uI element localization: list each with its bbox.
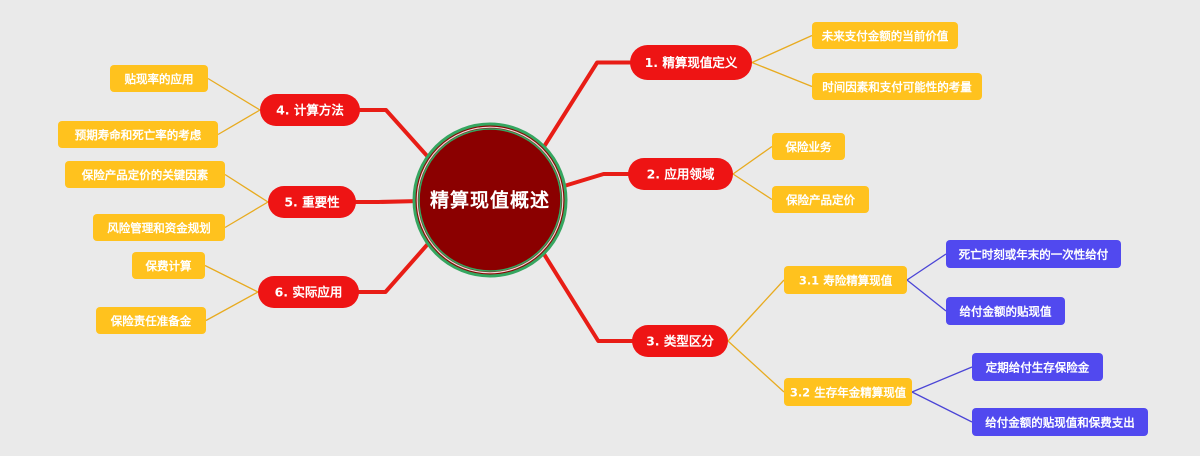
leaf-6-1-label: 保费计算 xyxy=(145,259,192,273)
edge-branch-leaf-1-2 xyxy=(752,63,812,87)
edge-branch-leaf-6-2 xyxy=(206,292,258,321)
edge-branch-leaf-4-2 xyxy=(218,110,260,135)
edge-trunk-branch-6 xyxy=(359,243,429,292)
root-node[interactable]: 精算现值概述 xyxy=(414,124,566,276)
branch-2-label: 2. 应用领域 xyxy=(647,167,715,182)
edge-branch-leaf-5-1 xyxy=(225,175,268,203)
edge-sub-leaf-3-2-2 xyxy=(912,392,972,422)
leaf-4-1-label: 贴现率的应用 xyxy=(124,72,194,86)
leaf-3-1-1-label: 死亡时刻或年末的一次性给付 xyxy=(959,248,1109,262)
edge-sub-leaf-3-1-1 xyxy=(907,254,946,280)
edge-trunk-branch-3 xyxy=(543,253,632,341)
edge-branch-leaf-6-1 xyxy=(205,266,258,293)
leaf-1-1-label: 未来支付金额的当前价值 xyxy=(821,29,949,43)
leaf-5-1-label: 保险产品定价的关键因素 xyxy=(81,168,209,182)
leaf-3-1-2-label: 给付金额的贴现值 xyxy=(960,305,1052,319)
branch-6[interactable]: 6. 实际应用 xyxy=(258,276,359,308)
edge-sub-leaf-3-2-1 xyxy=(912,367,972,392)
leaf-6-2-label: 保险责任准备金 xyxy=(110,314,192,328)
branch-6-label: 6. 实际应用 xyxy=(275,285,343,300)
leaf-6-1[interactable]: 保费计算 xyxy=(132,252,205,279)
leaf-6-2[interactable]: 保险责任准备金 xyxy=(96,307,206,334)
sub-3-2[interactable]: 3.2 生存年金精算现值 xyxy=(784,378,912,406)
branch-4[interactable]: 4. 计算方法 xyxy=(260,94,360,126)
branch-3[interactable]: 3. 类型区分 xyxy=(632,325,728,357)
edge-branch-leaf-2-1 xyxy=(733,147,772,175)
leaf-2-1[interactable]: 保险业务 xyxy=(772,133,845,160)
branch-1[interactable]: 1. 精算现值定义 xyxy=(630,45,752,80)
leaf-3-1-2[interactable]: 给付金额的贴现值 xyxy=(946,297,1065,325)
leaf-1-1[interactable]: 未来支付金额的当前价值 xyxy=(812,22,958,49)
edge-sub-leaf-3-1-2 xyxy=(907,280,946,311)
leaf-2-1-label: 保险业务 xyxy=(785,140,832,154)
edge-branch-leaf-1-1 xyxy=(752,36,812,63)
mindmap-canvas: 精算现值概述1. 精算现值定义未来支付金额的当前价值时间因素和支付可能性的考量2… xyxy=(0,0,1200,456)
branch-2[interactable]: 2. 应用领域 xyxy=(628,158,733,190)
edge-trunk-branch-1 xyxy=(544,63,630,148)
mindmap-svg: 精算现值概述1. 精算现值定义未来支付金额的当前价值时间因素和支付可能性的考量2… xyxy=(0,0,1200,456)
leaf-3-2-2-label: 给付金额的贴现值和保费支出 xyxy=(985,416,1135,430)
leaf-3-2-1[interactable]: 定期给付生存保险金 xyxy=(972,353,1103,381)
branch-5-label: 5. 重要性 xyxy=(284,195,340,210)
edge-trunk-branch-2 xyxy=(564,174,628,186)
edge-trunk-branch-5 xyxy=(356,201,415,202)
leaf-4-2[interactable]: 预期寿命和死亡率的考虑 xyxy=(58,121,218,148)
edge-branch-leaf-5-2 xyxy=(225,202,268,228)
leaf-4-2-label: 预期寿命和死亡率的考虑 xyxy=(75,128,202,142)
edge-branch-leaf-2-2 xyxy=(733,174,772,200)
leaf-5-1[interactable]: 保险产品定价的关键因素 xyxy=(65,161,225,188)
leaf-5-2[interactable]: 风险管理和资金规划 xyxy=(93,214,225,241)
leaf-1-2-label: 时间因素和支付可能性的考量 xyxy=(822,80,972,94)
edge-trunk-branch-4 xyxy=(360,110,428,157)
leaf-3-2-2[interactable]: 给付金额的贴现值和保费支出 xyxy=(972,408,1148,436)
edge-branch-leaf-4-1 xyxy=(208,79,260,111)
leaf-3-1-1[interactable]: 死亡时刻或年末的一次性给付 xyxy=(946,240,1121,268)
leaf-3-2-1-label: 定期给付生存保险金 xyxy=(986,361,1090,375)
sub-3-1-label: 3.1 寿险精算现值 xyxy=(799,274,893,288)
edge-branch-sub-3-1 xyxy=(728,280,784,341)
branch-3-label: 3. 类型区分 xyxy=(646,334,714,349)
root-node-label: 精算现值概述 xyxy=(430,189,550,212)
edge-branch-sub-3-2 xyxy=(728,341,784,392)
leaf-1-2[interactable]: 时间因素和支付可能性的考量 xyxy=(812,73,982,100)
sub-3-2-label: 3.2 生存年金精算现值 xyxy=(790,386,907,400)
branch-5[interactable]: 5. 重要性 xyxy=(268,186,356,218)
leaf-4-1[interactable]: 贴现率的应用 xyxy=(110,65,208,92)
leaf-2-2-label: 保险产品定价 xyxy=(785,193,855,207)
leaf-2-2[interactable]: 保险产品定价 xyxy=(772,186,869,213)
branch-4-label: 4. 计算方法 xyxy=(276,103,344,118)
branch-1-label: 1. 精算现值定义 xyxy=(645,55,738,70)
sub-3-1[interactable]: 3.1 寿险精算现值 xyxy=(784,266,907,294)
leaf-5-2-label: 风险管理和资金规划 xyxy=(107,221,211,235)
nodes-layer: 精算现值概述1. 精算现值定义未来支付金额的当前价值时间因素和支付可能性的考量2… xyxy=(58,22,1148,436)
